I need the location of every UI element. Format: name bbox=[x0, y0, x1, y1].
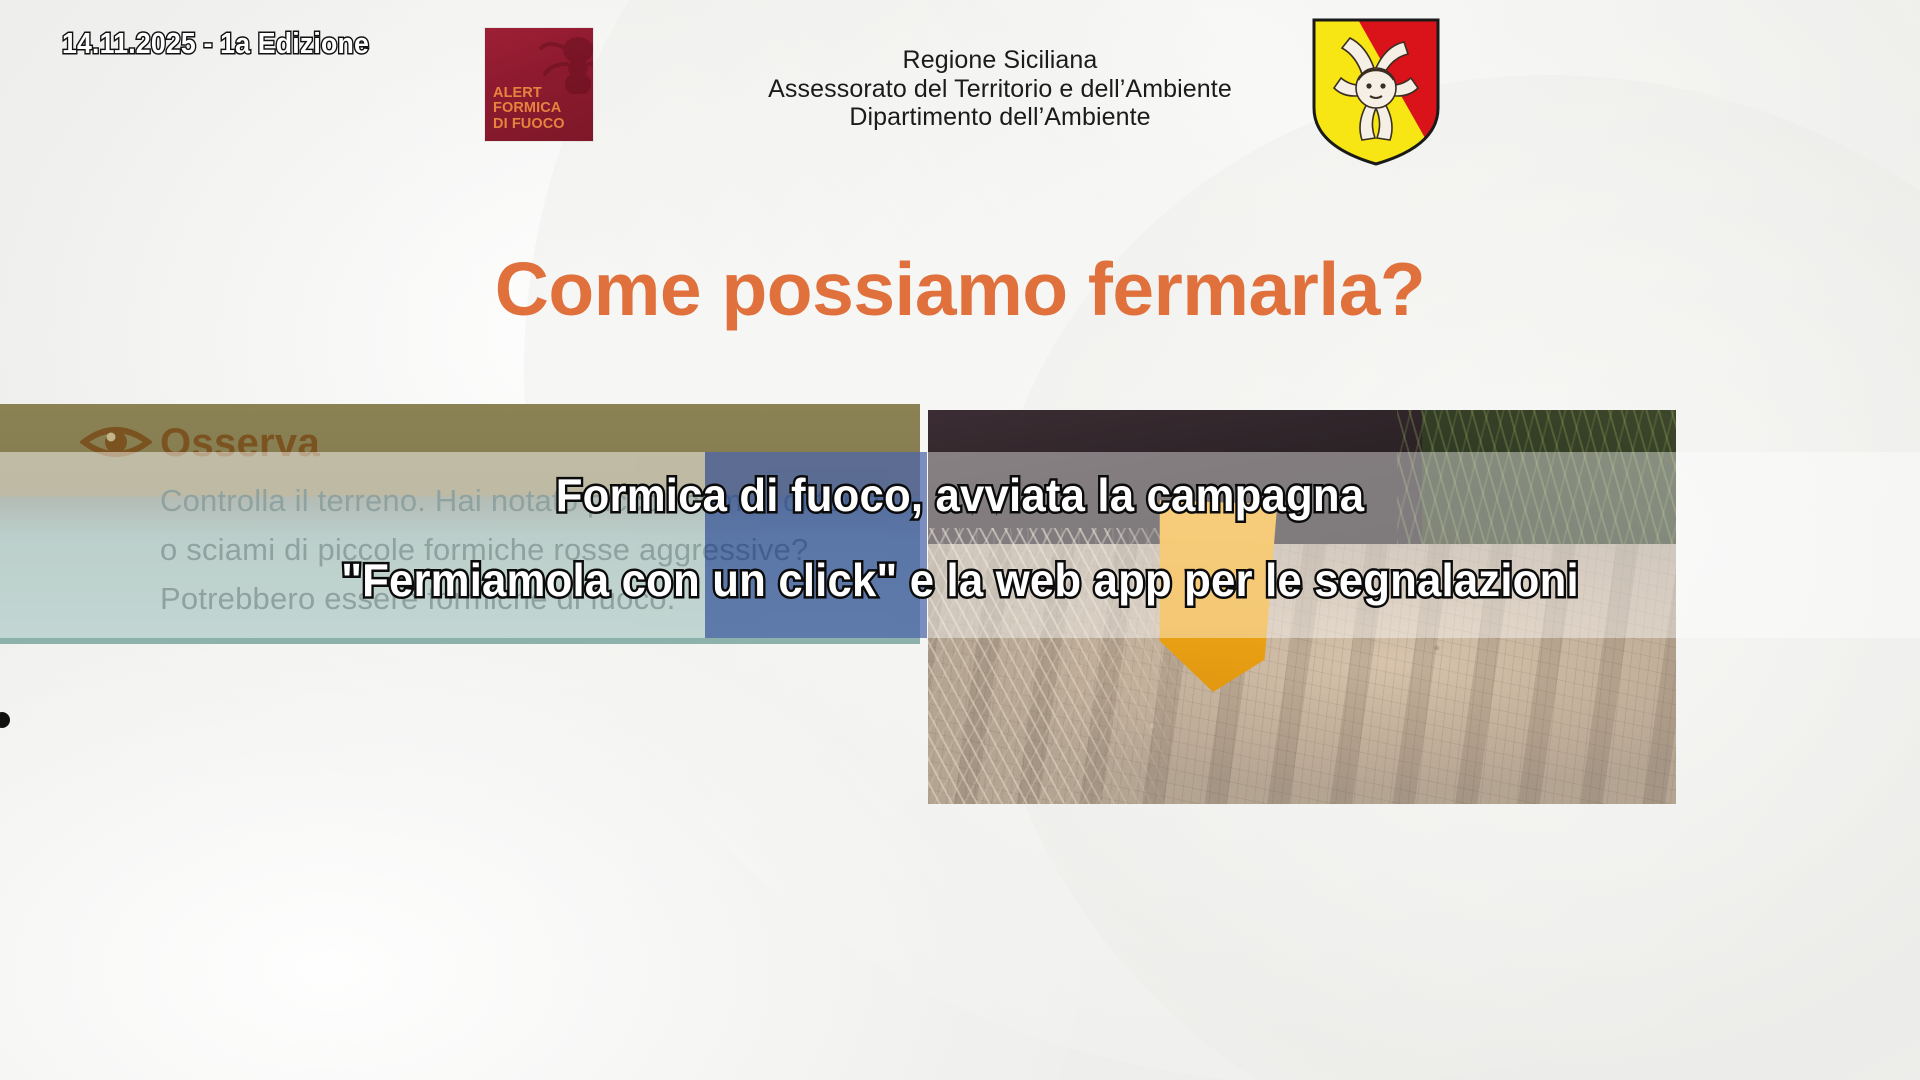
institution-line-3: Dipartimento dell’Ambiente bbox=[620, 103, 1380, 132]
alert-formica-di-fuoco-logo: ALERT FORMICA DI FUOCO bbox=[485, 28, 593, 141]
alert-logo-line2: FORMICA bbox=[493, 101, 587, 117]
broadcast-date-stamp: 14.11.2025 - 1a Edizione bbox=[62, 28, 369, 61]
page-title: Come possiamo fermarla? bbox=[0, 246, 1920, 332]
institution-line-1: Regione Siciliana bbox=[620, 46, 1380, 75]
subtitle-line-1: Formica di fuoco, avviata la campagna bbox=[48, 468, 1872, 522]
broadcast-frame: 14.11.2025 - 1a Edizione ALERT FORMICA D… bbox=[0, 0, 1920, 1080]
alert-logo-text: ALERT FORMICA DI FUOCO bbox=[493, 86, 587, 133]
subtitle-line-2: "Fermiamola con un click" e la web app p… bbox=[48, 553, 1872, 607]
institution-line-2: Assessorato del Territorio e dell’Ambien… bbox=[620, 75, 1380, 104]
corner-dot-mark bbox=[0, 712, 10, 728]
alert-logo-line1: ALERT bbox=[493, 86, 587, 102]
sicilian-coat-of-arms-icon bbox=[1310, 16, 1442, 168]
alert-logo-line3: DI FUOCO bbox=[493, 117, 587, 133]
institution-block: Regione Siciliana Assessorato del Territ… bbox=[620, 46, 1380, 132]
